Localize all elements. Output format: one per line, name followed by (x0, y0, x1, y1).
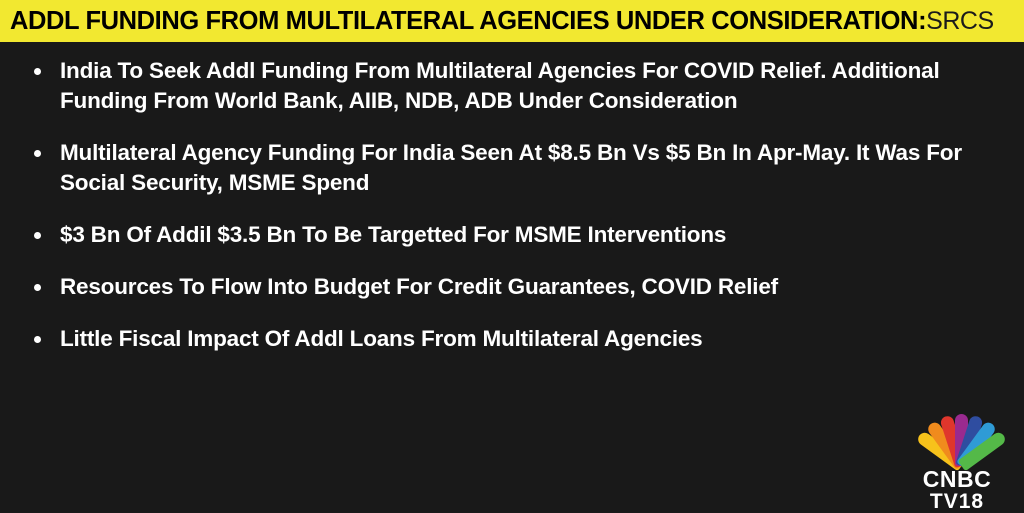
headline-text: ADDL FUNDING FROM MULTILATERAL AGENCIES … (10, 7, 926, 36)
list-item: India To Seek Addl Funding From Multilat… (26, 56, 998, 116)
bullet-dot-icon (34, 284, 41, 291)
list-item-text: Little Fiscal Impact Of Addl Loans From … (60, 326, 703, 351)
bullet-dot-icon (34, 336, 41, 343)
news-ticker-card: ADDL FUNDING FROM MULTILATERAL AGENCIES … (0, 0, 1024, 512)
headline-source: SRCS (926, 7, 993, 36)
bullet-dot-icon (34, 232, 41, 239)
peacock-icon (911, 412, 1003, 468)
headline-bar: ADDL FUNDING FROM MULTILATERAL AGENCIES … (0, 0, 1024, 42)
list-item: $3 Bn Of Addil $3.5 Bn To Be Targetted F… (26, 220, 998, 250)
list-item-text: Multilateral Agency Funding For India Se… (60, 140, 962, 195)
list-item-text: Resources To Flow Into Budget For Credit… (60, 274, 778, 299)
list-item: Resources To Flow Into Budget For Credit… (26, 272, 998, 302)
logo-line-2: TV18 (902, 491, 1012, 512)
channel-logo: CNBC TV18 (902, 412, 1012, 504)
bullet-list-container: India To Seek Addl Funding From Multilat… (0, 42, 1024, 512)
bullet-list: India To Seek Addl Funding From Multilat… (26, 56, 998, 354)
list-item-text: India To Seek Addl Funding From Multilat… (60, 58, 940, 113)
bullet-dot-icon (34, 68, 41, 75)
logo-line-1: CNBC (902, 468, 1012, 491)
list-item: Multilateral Agency Funding For India Se… (26, 138, 998, 198)
list-item-text: $3 Bn Of Addil $3.5 Bn To Be Targetted F… (60, 222, 726, 247)
list-item: Little Fiscal Impact Of Addl Loans From … (26, 324, 998, 354)
bullet-dot-icon (34, 150, 41, 157)
